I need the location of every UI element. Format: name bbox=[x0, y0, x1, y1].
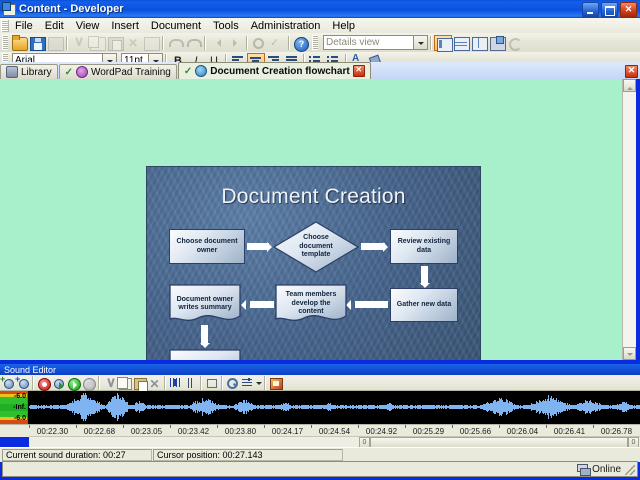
menu-item-document[interactable]: Document bbox=[145, 19, 207, 33]
app-icon bbox=[2, 2, 16, 16]
ruler-label: 00:25.66 bbox=[460, 427, 491, 436]
node-label: Team members develop the content bbox=[275, 291, 347, 317]
chevron-down-icon[interactable] bbox=[255, 376, 262, 390]
paste-icon[interactable] bbox=[132, 376, 147, 390]
view-tools-icon[interactable] bbox=[488, 35, 506, 51]
ruler-label: 00:26.41 bbox=[554, 427, 585, 436]
vu-label-bottom: -6.0 bbox=[14, 415, 26, 422]
paste-icon[interactable] bbox=[106, 35, 124, 51]
close-button[interactable]: ✕ bbox=[620, 2, 637, 18]
ruler-tick bbox=[123, 425, 124, 428]
open-folder-icon[interactable] bbox=[10, 35, 28, 51]
refresh-icon[interactable] bbox=[506, 35, 524, 51]
cut-icon[interactable] bbox=[70, 35, 88, 51]
ruler-tick bbox=[29, 425, 30, 428]
cut-icon[interactable] bbox=[102, 376, 117, 390]
minimize-button[interactable] bbox=[582, 2, 599, 18]
levels-icon[interactable] bbox=[240, 376, 255, 390]
spellcheck-icon[interactable]: ✓ bbox=[268, 35, 286, 51]
close-all-tabs-button[interactable]: ✕ bbox=[625, 65, 638, 78]
menu-item-file[interactable]: File bbox=[9, 19, 39, 33]
view-split-vertical-icon[interactable] bbox=[470, 35, 488, 51]
main-toolbar: ✕ ✓ ? Details view bbox=[0, 33, 640, 52]
ruler-label: 00:25.29 bbox=[413, 427, 444, 436]
vu-label-top: -6.0 bbox=[14, 393, 26, 400]
node-label: Choose document template bbox=[289, 234, 343, 260]
node-writes-summary[interactable]: Document owner writes summary bbox=[169, 284, 241, 324]
tab-strip: Library ✓ WordPad Training ✓ Document Cr… bbox=[0, 62, 640, 79]
toolbar-grip[interactable] bbox=[2, 35, 8, 50]
ruler-label: 00:23.42 bbox=[178, 427, 209, 436]
view-split-horizontal-icon[interactable] bbox=[452, 35, 470, 51]
tab-library[interactable]: Library bbox=[0, 64, 58, 79]
arrow-summary-to-publish bbox=[201, 325, 208, 345]
ruler-tick bbox=[546, 425, 547, 428]
toolbar-separator bbox=[66, 36, 68, 50]
node-choose-template[interactable]: Choose document template bbox=[273, 221, 359, 273]
sound-duration-status: Current sound duration: 00:27 bbox=[2, 449, 152, 461]
ruler-tick bbox=[358, 425, 359, 428]
sound-editor-title-bar: Sound Editor bbox=[0, 364, 640, 375]
ruler-label: 00:23.80 bbox=[225, 427, 256, 436]
tab-document-creation-flowchart[interactable]: ✓ Document Creation flowchart ✕ bbox=[178, 62, 371, 79]
view-details-icon[interactable] bbox=[434, 35, 452, 51]
stop-icon[interactable] bbox=[81, 376, 96, 390]
cursor-position-status: Cursor position: 00:27.143 bbox=[153, 449, 343, 461]
toolbar-separator bbox=[98, 376, 100, 390]
arrow-owner-to-template bbox=[247, 243, 269, 250]
online-status: Online bbox=[577, 464, 621, 475]
toolbar-separator bbox=[164, 376, 166, 390]
ruler-tick bbox=[76, 425, 77, 428]
undo-icon[interactable] bbox=[166, 35, 184, 51]
save-icon[interactable] bbox=[28, 35, 46, 51]
menu-item-insert[interactable]: Insert bbox=[105, 19, 145, 33]
maximize-button[interactable] bbox=[601, 2, 618, 18]
library-icon bbox=[6, 66, 18, 78]
scroll-down-icon[interactable] bbox=[623, 347, 636, 360]
node-choose-owner[interactable]: Choose document owner bbox=[169, 229, 245, 264]
network-icon bbox=[577, 464, 589, 474]
vu-meter: -6.0 -Inf. -6.0 bbox=[0, 391, 28, 424]
menu-item-edit[interactable]: Edit bbox=[39, 19, 70, 33]
document-vertical-scrollbar[interactable] bbox=[622, 79, 636, 360]
toolbar-separator bbox=[200, 376, 202, 390]
toolbar-separator bbox=[430, 36, 432, 50]
tab-close-icon[interactable]: ✕ bbox=[353, 65, 365, 77]
redo-icon[interactable] bbox=[184, 35, 202, 51]
arrow-template-to-review bbox=[361, 243, 385, 250]
tab-label: WordPad Training bbox=[91, 67, 171, 78]
window-right-edge bbox=[636, 79, 640, 360]
node-gather-data[interactable]: Gather new data bbox=[390, 288, 458, 322]
ruler-label: 00:26.04 bbox=[507, 427, 538, 436]
online-label: Online bbox=[592, 464, 621, 475]
ruler-label: 00:22.30 bbox=[37, 427, 68, 436]
toolbar-grip-2[interactable] bbox=[312, 35, 318, 50]
node-label: Document owner writes summary bbox=[169, 296, 241, 313]
menu-bar: File Edit View Insert Document Tools Adm… bbox=[0, 18, 640, 34]
node-label: Gather new data bbox=[397, 301, 451, 310]
crop-icon[interactable] bbox=[204, 376, 219, 390]
record-insert-icon[interactable] bbox=[51, 376, 66, 390]
slide-title: Document Creation bbox=[147, 185, 480, 209]
toolbar-separator bbox=[221, 376, 223, 390]
window-controls: ✕ bbox=[582, 2, 637, 18]
chevron-down-icon[interactable] bbox=[413, 36, 427, 49]
node-label: Review existing data bbox=[393, 238, 455, 255]
ruler-tick bbox=[593, 425, 594, 428]
node-publish-document[interactable]: Publish document bbox=[169, 349, 241, 360]
ruler-label: 00:24.17 bbox=[272, 427, 303, 436]
ruler-label: 00:22.68 bbox=[84, 427, 115, 436]
ruler-left-pad bbox=[0, 424, 29, 437]
check-icon: ✓ bbox=[184, 66, 192, 77]
toolbar-separator bbox=[246, 36, 248, 50]
toolbar-separator bbox=[204, 36, 206, 50]
delete-icon[interactable]: ✕ bbox=[147, 376, 162, 390]
arrow-review-to-gather bbox=[421, 266, 428, 285]
ruler-label: 00:24.92 bbox=[366, 427, 397, 436]
delete-icon[interactable]: ✕ bbox=[124, 35, 142, 51]
application-window: Content - Developer ✕ File Edit View Ins… bbox=[0, 0, 640, 480]
waveform-display[interactable] bbox=[29, 391, 640, 424]
properties-icon[interactable] bbox=[142, 35, 160, 51]
ruler-label: 00:26.78 bbox=[601, 427, 632, 436]
wordpad-icon bbox=[76, 66, 88, 78]
menu-grip[interactable] bbox=[1, 20, 9, 32]
tab-label: Document Creation flowchart bbox=[210, 66, 349, 77]
copy-icon[interactable] bbox=[117, 376, 132, 390]
forward-icon[interactable] bbox=[226, 35, 244, 51]
add-marker-blue-icon[interactable] bbox=[15, 376, 30, 390]
sound-editor-title: Sound Editor bbox=[0, 365, 56, 375]
print-icon[interactable] bbox=[46, 35, 64, 51]
flowchart-slide: Document Creation Choose document owner … bbox=[147, 167, 480, 360]
menu-item-tools[interactable]: Tools bbox=[207, 19, 245, 33]
scroll-up-icon[interactable] bbox=[623, 79, 636, 92]
application-status-bar: Online bbox=[2, 461, 638, 477]
play-icon[interactable] bbox=[66, 376, 81, 390]
check-icon: ✓ bbox=[65, 67, 73, 78]
arrow-content-to-summary bbox=[250, 301, 274, 308]
menu-item-help[interactable]: Help bbox=[326, 19, 361, 33]
document-shape-icon bbox=[169, 349, 241, 360]
back-icon[interactable] bbox=[208, 35, 226, 51]
document-icon bbox=[195, 65, 207, 77]
add-marker-green-icon[interactable] bbox=[0, 376, 15, 390]
menu-item-view[interactable]: View bbox=[70, 19, 106, 33]
sound-editor-toolbar: ✕ bbox=[0, 375, 640, 391]
tab-label: Library bbox=[21, 67, 52, 78]
toolbar-separator bbox=[162, 36, 164, 50]
toolbar-separator bbox=[32, 376, 34, 390]
menu-item-administration[interactable]: Administration bbox=[245, 19, 327, 33]
vu-label-mid: -Inf. bbox=[13, 404, 26, 411]
resize-grip[interactable] bbox=[625, 465, 635, 475]
node-develop-content[interactable]: Team members develop the content bbox=[275, 284, 347, 324]
help-icon[interactable]: ? bbox=[292, 35, 310, 51]
ruler-tick bbox=[405, 425, 406, 428]
view-mode-value: Details view bbox=[326, 37, 379, 48]
document-canvas[interactable]: Document Creation Choose document owner … bbox=[0, 79, 640, 360]
record-icon[interactable] bbox=[36, 376, 51, 390]
ruler-tick bbox=[217, 425, 218, 428]
arrow-gather-to-content bbox=[355, 301, 388, 308]
toolbar-separator bbox=[264, 376, 266, 390]
node-label: Choose document owner bbox=[172, 238, 242, 255]
ruler-tick bbox=[499, 425, 500, 428]
find-icon[interactable] bbox=[250, 35, 268, 51]
ruler-tick bbox=[264, 425, 265, 428]
ruler-tick bbox=[170, 425, 171, 428]
ruler-label: 00:24.54 bbox=[319, 427, 350, 436]
zoom-selection-icon[interactable] bbox=[168, 376, 183, 390]
tab-wordpad-training[interactable]: ✓ WordPad Training bbox=[59, 64, 177, 79]
copy-icon[interactable] bbox=[88, 35, 106, 51]
image-editor-icon[interactable] bbox=[268, 376, 283, 390]
toolbar-separator bbox=[288, 36, 290, 50]
ruler-label: 00:23.05 bbox=[131, 427, 162, 436]
ruler-tick bbox=[452, 425, 453, 428]
ruler-tick bbox=[311, 425, 312, 428]
window-title: Content - Developer bbox=[19, 3, 124, 15]
zoom-icon[interactable] bbox=[225, 376, 240, 390]
view-mode-combo[interactable]: Details view bbox=[323, 35, 428, 50]
title-bar: Content - Developer ✕ bbox=[0, 0, 640, 18]
sound-editor-status-bar: Current sound duration: 00:27 Cursor pos… bbox=[0, 447, 640, 462]
markers-icon[interactable] bbox=[183, 376, 198, 390]
node-review-data[interactable]: Review existing data bbox=[390, 229, 458, 264]
